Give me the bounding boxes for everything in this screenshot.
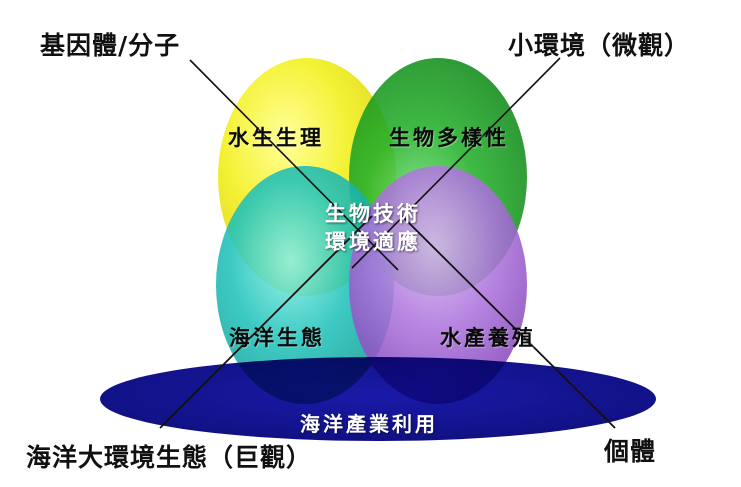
base-ellipse-label: 海洋產業利用 — [300, 408, 438, 437]
lobe-label-aquatic-physiology: 水生生理 — [228, 122, 324, 152]
outer-label-macro-ecology: 海洋大環境生態（巨觀） — [26, 438, 312, 474]
outer-label-genome-molecule: 基因體/分子 — [40, 26, 180, 62]
lobe-label-marine-ecology: 海洋生態 — [229, 322, 325, 352]
lobe-label-biodiversity: 生物多樣性 — [389, 122, 509, 152]
center-label-line2: 環境適應 — [268, 228, 478, 256]
diagram-canvas: 基因體/分子 小環境（微觀） 海洋大環境生態（巨觀） 個體 水生生理 生物多樣性… — [0, 0, 741, 487]
center-intersection-label: 生物技術 環境適應 — [268, 200, 478, 257]
center-label-line1: 生物技術 — [268, 200, 478, 228]
outer-label-individual: 個體 — [604, 432, 656, 468]
lobe-label-aquaculture: 水產養殖 — [440, 322, 536, 352]
outer-label-micro-environment: 小環境（微觀） — [508, 26, 690, 62]
